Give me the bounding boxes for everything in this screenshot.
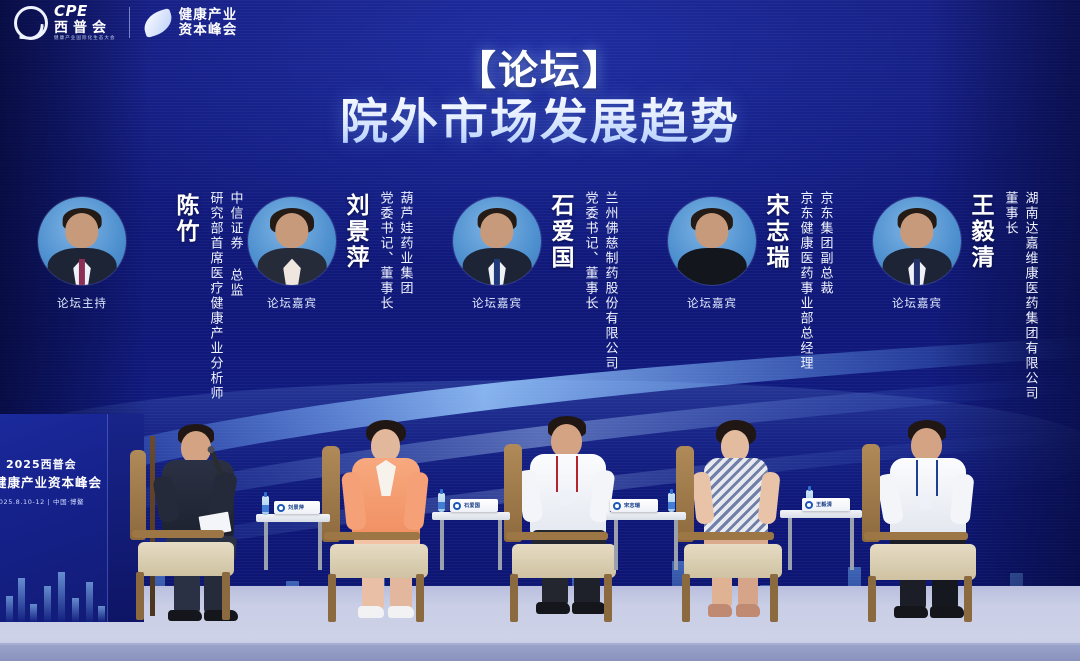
summit-line1: 健康产业: [179, 8, 238, 23]
nameplate-wang-yiqing: 王毅清: [802, 498, 850, 511]
nameplate-text: 王毅清: [816, 501, 832, 508]
speaker-card-song-zhirui: 论坛嘉宾 宋志瑞 京东健康医药事业部总经理 京东集团副总裁: [660, 183, 865, 413]
summit-line2: 资本峰会: [179, 23, 238, 38]
nameplate-liu-jingping: 刘景萍: [274, 501, 320, 514]
chair-4: [672, 446, 792, 622]
water-bottle-1: [262, 496, 269, 515]
conference-stage-screenshot: CPE 西普会 健康产业国际化生态大会 健康产业 资本峰会 【论坛】 院外市场发…: [0, 0, 1080, 661]
side-table-2: 石爱国: [432, 498, 510, 570]
side-table-3: 宋志瑞: [606, 498, 686, 570]
podium-banner-line3: 2025.8.10-12 | 中国·博鳌: [0, 496, 84, 506]
nameplate-logo-icon: [277, 504, 285, 512]
podium-banner-line1: 2025西普会: [6, 456, 77, 472]
cpe-en-label: CPE: [54, 4, 116, 19]
water-bottle-2: [438, 493, 445, 512]
logo-divider: [129, 7, 130, 38]
chair-5: [858, 444, 988, 622]
forum-title-block: 【论坛】 院外市场发展趋势: [0, 50, 1080, 149]
nameplate-song-zhirui: 宋志瑞: [610, 499, 658, 512]
forum-title-line1: 【论坛】: [0, 50, 1080, 92]
side-table-1: 刘景萍: [256, 500, 330, 570]
speaker-role-liu-jingping: 论坛嘉宾: [248, 295, 336, 311]
speaker-card-shi-aiguo: 论坛嘉宾 石爱国 党委书记、董事长 兰州佛慈制药股份有限公司: [445, 183, 650, 413]
nameplate-logo-icon: [453, 502, 461, 510]
speaker-card-chen-zhu: 论坛主持 陈竹 研究部首席医疗健康产业分析师 中信证券 总监: [30, 183, 235, 413]
speaker-photo-chen-zhu: [38, 197, 126, 285]
cpe-wordmark: CPE 西普会 健康产业国际化生态大会: [54, 4, 116, 42]
speaker-role-wang-yiqing: 论坛嘉宾: [873, 295, 961, 311]
cpe-circle-icon: [14, 6, 48, 40]
speaker-org2-liu-jingping: 葫芦娃药业集团: [396, 191, 414, 296]
chair-1: [124, 450, 244, 620]
summit-wordmark: 健康产业 资本峰会: [179, 8, 238, 37]
speaker-name-chen-zhu: 陈竹: [168, 193, 202, 245]
logo-cpe: CPE 西普会 健康产业国际化生态大会: [14, 4, 116, 42]
speaker-name-song-zhirui: 宋志瑞: [758, 193, 792, 271]
speaker-org1-song-zhirui: 京东健康医药事业部总经理: [796, 191, 814, 371]
nameplate-text: 石爱国: [464, 502, 480, 509]
speaker-card-wang-yiqing: 论坛嘉宾 王毅清 董事长 湖南达嘉维康医药集团有限公司: [865, 183, 1070, 413]
nameplate-logo-icon: [613, 502, 621, 510]
speaker-photo-wang-yiqing: [873, 197, 961, 285]
forum-title-line2: 院外市场发展趋势: [0, 96, 1080, 149]
podium-banner-line2: 健康产业资本峰会: [0, 472, 102, 491]
speaker-card-liu-jingping: 论坛嘉宾 刘景萍 党委书记、董事长 葫芦娃药业集团: [240, 183, 445, 413]
cpe-tagline: 健康产业国际化生态大会: [54, 37, 116, 42]
stage-riser: [0, 645, 1080, 661]
speaker-org1-wang-yiqing: 董事长: [1001, 191, 1019, 236]
speaker-role-chen-zhu: 论坛主持: [38, 295, 126, 311]
nameplate-logo-icon: [805, 501, 813, 509]
leaf-icon: [143, 12, 173, 34]
cpe-cn-label: 西普会: [54, 21, 116, 35]
speaker-org2-wang-yiqing: 湖南达嘉维康医药集团有限公司: [1021, 191, 1039, 401]
nameplate-shi-aiguo: 石爱国: [450, 499, 498, 512]
speaker-org1-chen-zhu: 研究部首席医疗健康产业分析师: [206, 191, 224, 401]
speaker-name-shi-aiguo: 石爱国: [543, 193, 577, 271]
water-bottle-3: [668, 493, 675, 512]
speaker-photo-shi-aiguo: [453, 197, 541, 285]
podium-bar-decoration: [0, 552, 108, 622]
header-logos: CPE 西普会 健康产业国际化生态大会 健康产业 资本峰会: [14, 4, 237, 42]
speaker-org1-shi-aiguo: 党委书记、董事长: [581, 191, 599, 311]
side-table-4: 王毅清: [780, 496, 862, 570]
chair-2: [318, 446, 438, 622]
speaker-name-wang-yiqing: 王毅清: [963, 193, 997, 271]
nameplate-text: 刘景萍: [288, 504, 304, 511]
logo-summit: 健康产业 资本峰会: [143, 8, 238, 37]
nameplate-text: 宋志瑞: [624, 502, 640, 509]
speaker-role-shi-aiguo: 论坛嘉宾: [453, 295, 541, 311]
speaker-org1-liu-jingping: 党委书记、董事长: [376, 191, 394, 311]
speaker-photo-liu-jingping: [248, 197, 336, 285]
speaker-name-liu-jingping: 刘景萍: [338, 193, 372, 271]
speaker-role-song-zhirui: 论坛嘉宾: [668, 295, 756, 311]
speaker-org2-song-zhirui: 京东集团副总裁: [816, 191, 834, 296]
podium-banner: 2025西普会 健康产业资本峰会 2025.8.10-12 | 中国·博鳌: [0, 414, 108, 622]
speaker-photo-song-zhirui: [668, 197, 756, 285]
speaker-org2-shi-aiguo: 兰州佛慈制药股份有限公司: [601, 191, 619, 371]
speaker-strip: 论坛主持 陈竹 研究部首席医疗健康产业分析师 中信证券 总监 论坛嘉宾 刘景萍 …: [0, 183, 1080, 413]
